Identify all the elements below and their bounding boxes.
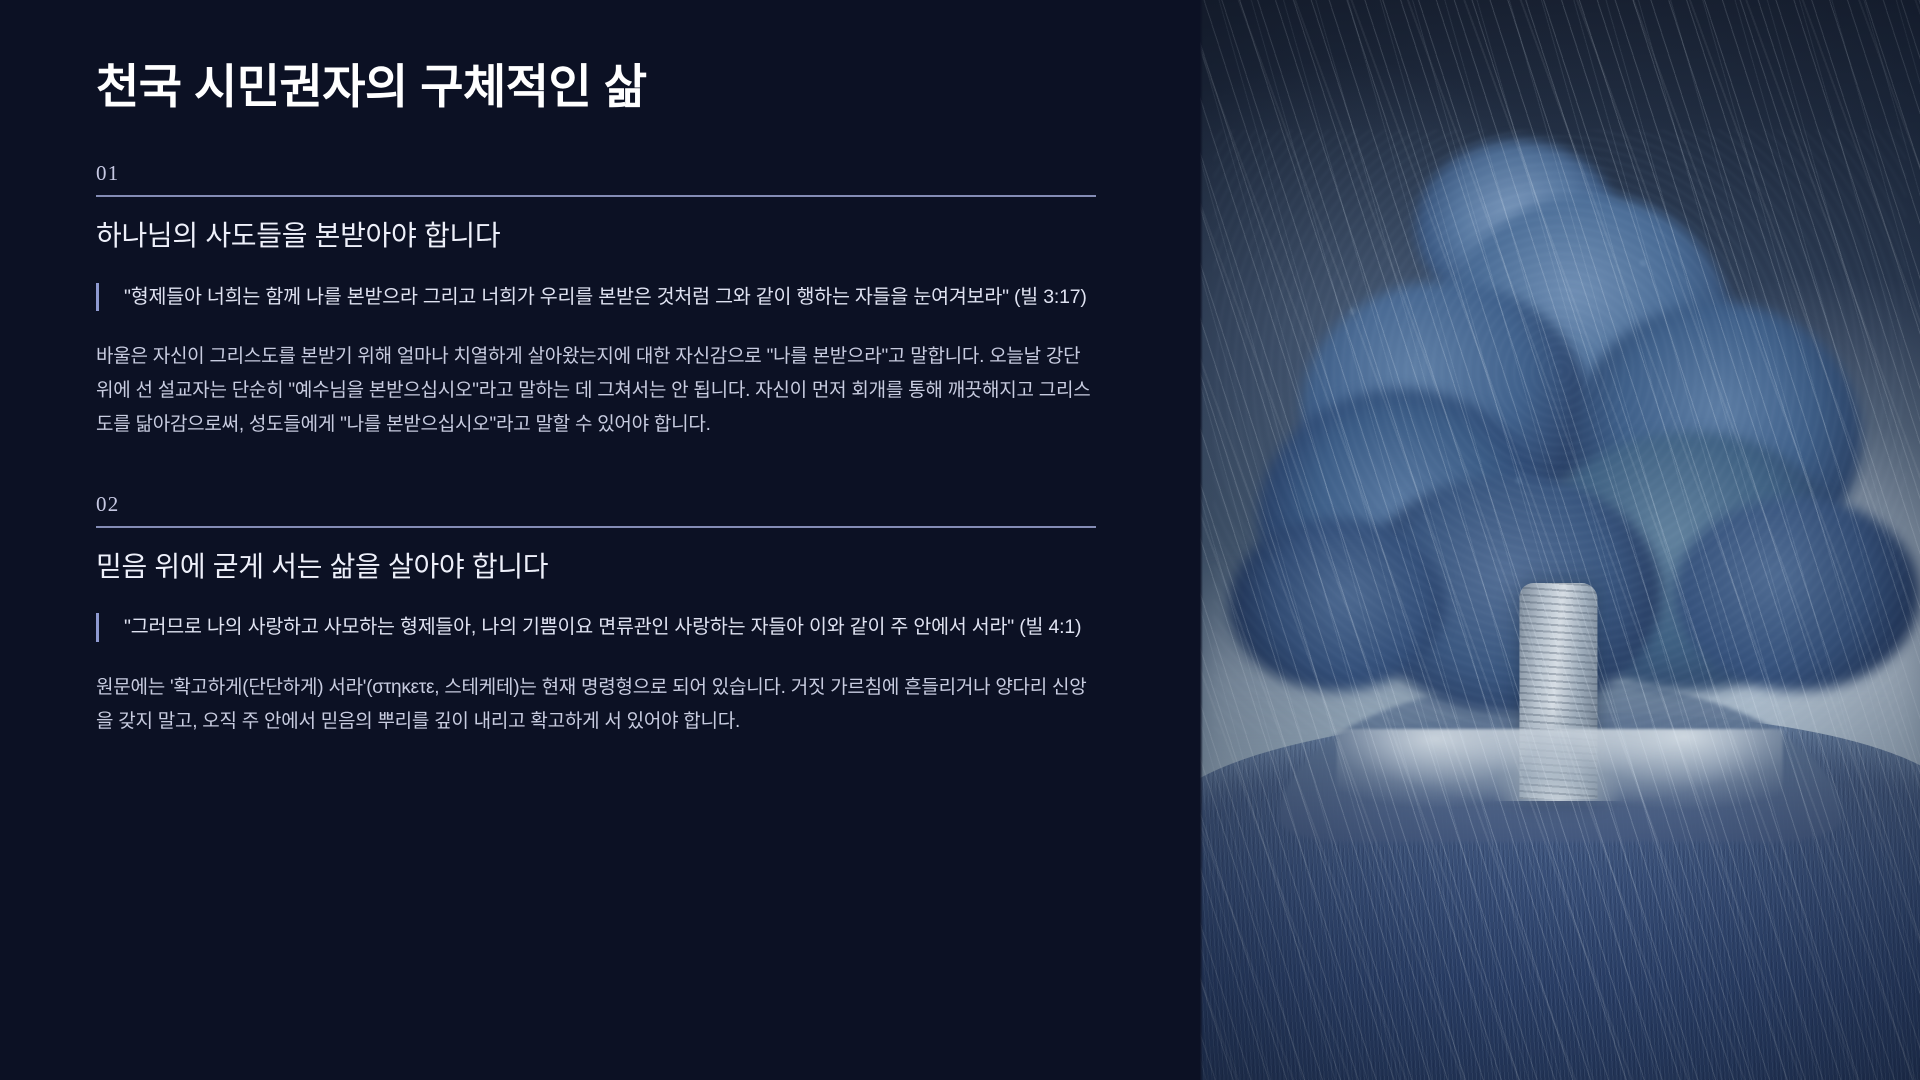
content-pane: 천국 시민권자의 구체적인 삶 01 하나님의 사도들을 본받아야 합니다 "형…: [0, 0, 1200, 1080]
section-divider: [96, 195, 1096, 197]
section-number: 02: [96, 494, 1104, 515]
section-body-text: 바울은 자신이 그리스도를 본받기 위해 얼마나 치열하게 살아왔는지에 대한 …: [96, 340, 1096, 441]
section-body-text: 원문에는 '확고하게(단단하게) 서라'(στηκετε, 스테케테)는 현재 …: [96, 671, 1096, 739]
tree-roots: [1337, 729, 1783, 826]
section-01: 01 하나님의 사도들을 본받아야 합니다 "형제들아 너희는 함께 나를 본받…: [96, 163, 1104, 442]
section-02: 02 믿음 위에 굳게 서는 삶을 살아야 합니다 "그러므로 나의 사랑하고 …: [96, 494, 1104, 739]
section-divider: [96, 526, 1096, 528]
page-title: 천국 시민권자의 구체적인 삶: [96, 58, 1104, 117]
section-heading: 하나님의 사도들을 본받아야 합니다: [96, 217, 1104, 255]
scripture-quote: "형제들아 너희는 함께 나를 본받으라 그리고 너희가 우리를 본받은 것처럼…: [96, 280, 1096, 315]
section-number: 01: [96, 163, 1104, 184]
storm-tree-image: [1200, 0, 1920, 1080]
scripture-text: "그러므로 나의 사랑하고 사모하는 형제들아, 나의 기쁨이요 면류관인 사랑…: [124, 610, 1096, 645]
slide-root: 천국 시민권자의 구체적인 삶 01 하나님의 사도들을 본받아야 합니다 "형…: [0, 0, 1920, 1080]
section-heading: 믿음 위에 굳게 서는 삶을 살아야 합니다: [96, 548, 1104, 586]
scripture-text: "형제들아 너희는 함께 나를 본받으라 그리고 너희가 우리를 본받은 것처럼…: [124, 280, 1096, 315]
scripture-quote: "그러므로 나의 사랑하고 사모하는 형제들아, 나의 기쁨이요 면류관인 사랑…: [96, 610, 1096, 645]
